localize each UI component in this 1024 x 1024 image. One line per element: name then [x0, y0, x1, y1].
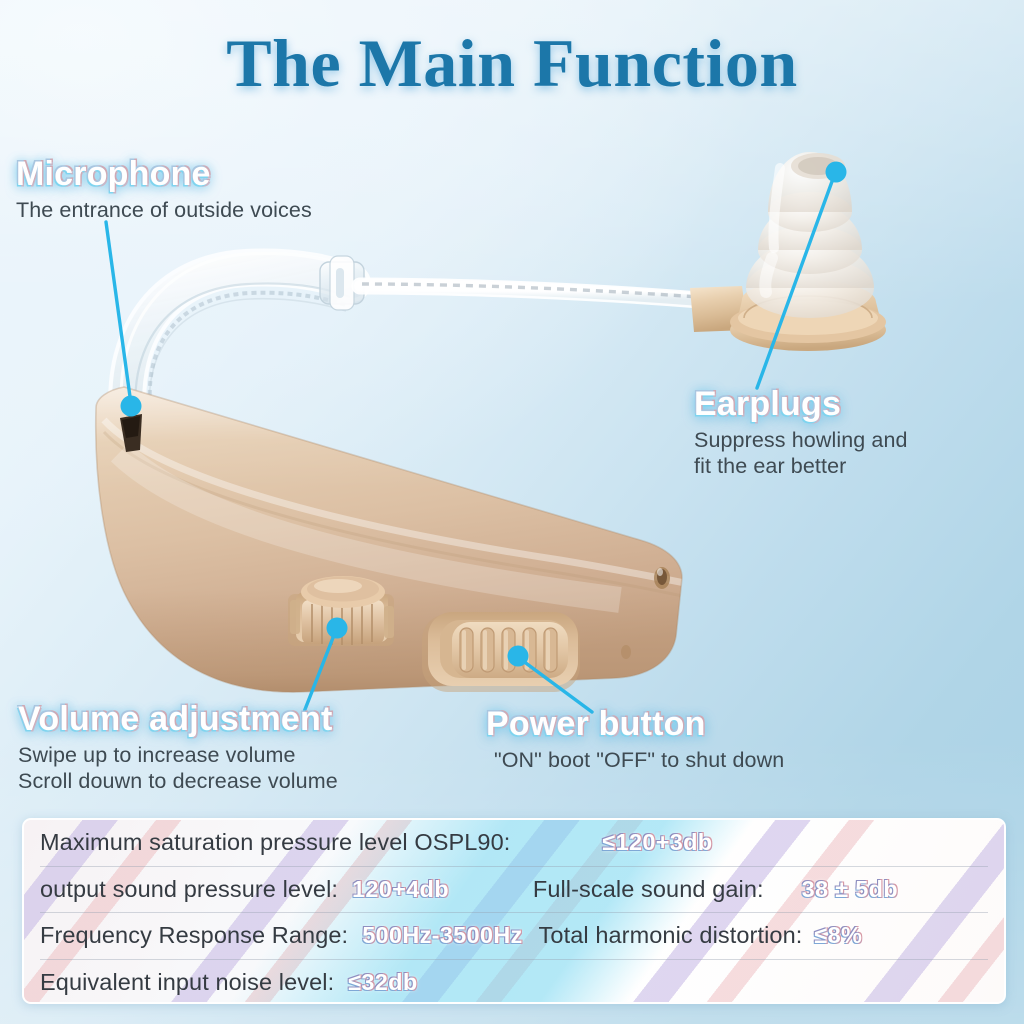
marker-microphone	[121, 396, 142, 417]
spec-row-frequency-response: Frequency Response Range: 500Hz-3500Hz T…	[40, 913, 988, 960]
marker-volume	[327, 618, 348, 639]
spec-label-thd: Total harmonic distortion:	[539, 922, 803, 949]
spec-value-thd: ≤8%	[814, 922, 862, 949]
callout-earplugs-subtitle-line1: Suppress howling and	[694, 427, 908, 453]
spec-label-ospl90: Maximum saturation pressure level OSPL90…	[40, 829, 510, 856]
callout-volume-adjustment: Volume adjustment Swipe up to increase v…	[18, 700, 338, 795]
callout-volume-subtitle-line1: Swipe up to increase volume	[18, 742, 338, 768]
leader-earplugs	[757, 176, 834, 388]
callout-microphone: Microphone The entrance of outside voice…	[16, 155, 312, 223]
specifications-table: Maximum saturation pressure level OSPL90…	[22, 818, 1006, 1004]
spec-label-frequency-response: Frequency Response Range:	[40, 922, 348, 949]
callout-earplugs-subtitle-line2: fit the ear better	[694, 453, 908, 479]
leader-power	[519, 658, 592, 712]
callout-microphone-subtitle: The entrance of outside voices	[16, 197, 312, 223]
spec-value-frequency-response: 500Hz-3500Hz	[362, 922, 522, 949]
callout-microphone-title: Microphone	[16, 155, 312, 193]
spec-row-output-sound-pressure: output sound pressure level: 120+4db Ful…	[40, 867, 988, 914]
marker-power	[508, 646, 529, 667]
spec-label-output-sound-pressure: output sound pressure level:	[40, 876, 338, 903]
callout-power-subtitle: "ON" boot "OFF" to shut down	[494, 747, 784, 773]
spec-value-equivalent-input-noise: ≤32db	[348, 969, 417, 996]
spec-value-output-sound-pressure: 120+4db	[352, 876, 449, 903]
callout-earplugs: Earplugs Suppress howling and fit the ea…	[694, 385, 908, 480]
callout-earplugs-title: Earplugs	[694, 385, 908, 423]
spec-label-equivalent-input-noise: Equivalent input noise level:	[40, 969, 334, 996]
spec-row-ospl90: Maximum saturation pressure level OSPL90…	[40, 820, 988, 867]
spec-value-full-scale-gain: 38 ± 5db	[802, 876, 898, 903]
callout-power-title: Power button	[486, 705, 784, 743]
spec-label-full-scale-gain: Full-scale sound gain:	[533, 876, 764, 903]
leader-microphone	[106, 222, 131, 404]
spec-row-equivalent-input-noise: Equivalent input noise level: ≤32db	[40, 960, 988, 1005]
marker-earplugs	[826, 162, 847, 183]
callout-volume-title: Volume adjustment	[18, 700, 338, 738]
callout-volume-subtitle-line2: Scroll douwn to decrease volume	[18, 768, 338, 794]
spec-value-ospl90: ≤120+3db	[602, 829, 712, 856]
callout-power-button: Power button "ON" boot "OFF" to shut dow…	[486, 705, 784, 773]
